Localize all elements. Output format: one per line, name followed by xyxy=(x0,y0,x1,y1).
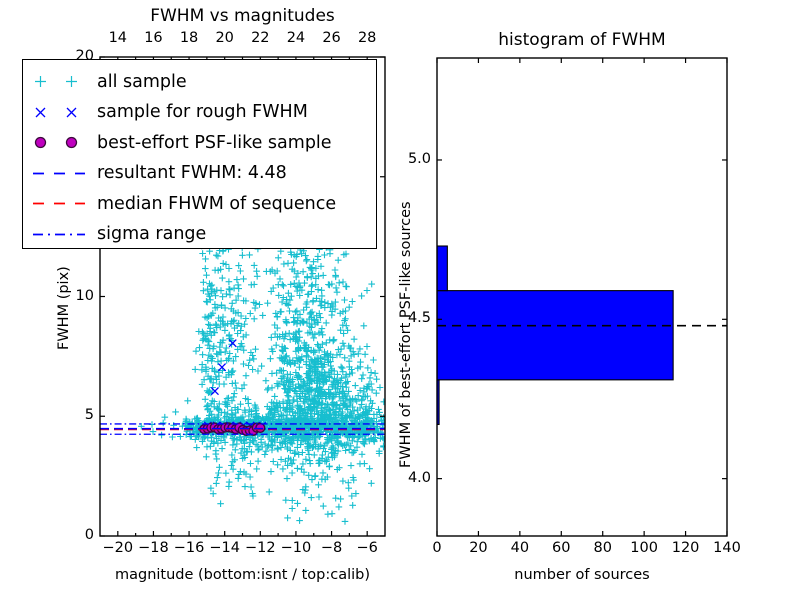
left-panel-ylabel: FWHM (pix) xyxy=(56,266,72,350)
legend-item: median FHWM of sequence xyxy=(23,188,376,219)
ryl-label: 4.0 xyxy=(408,470,431,486)
right-panel-ylabel: FWHM of best-effort PSF-like sources xyxy=(398,201,414,468)
legend-item-label: median FHWM of sequence xyxy=(97,194,336,214)
legend-item-label: best-effort PSF-like sample xyxy=(97,133,332,153)
legend-dashed-line-icon xyxy=(23,188,97,219)
left-panel-xlabel: magnitude (bottom:isnt / top:calib) xyxy=(100,567,385,583)
lyl-label: 0 xyxy=(85,527,94,543)
lxt-label: 26 xyxy=(322,30,340,46)
lxt-label: 18 xyxy=(180,30,198,46)
lxb-label: −6 xyxy=(357,540,378,556)
rxl-label: 20 xyxy=(469,540,487,556)
legend-cross-icon xyxy=(23,97,97,128)
lyl-label: 10 xyxy=(76,288,94,304)
legend-item: sigma range xyxy=(23,219,376,250)
lxb-label: −16 xyxy=(174,540,205,556)
lxb-label: −12 xyxy=(245,540,276,556)
scatter-point-circle xyxy=(256,424,265,433)
lyl-label: 5 xyxy=(85,407,94,423)
rxl-label: 40 xyxy=(511,540,529,556)
histogram-bar xyxy=(437,246,447,291)
legend-circle-icon xyxy=(23,127,97,158)
lxb-label: −14 xyxy=(209,540,240,556)
lxt-label: 28 xyxy=(358,30,376,46)
left-panel-title: FWHM vs magnitudes xyxy=(100,6,385,26)
right-panel-title: histogram of FWHM xyxy=(437,30,727,50)
legend-item: all sample xyxy=(23,66,376,97)
rxl-label: 100 xyxy=(630,540,658,556)
legend-item-label: sigma range xyxy=(97,224,206,244)
lxb-label: −20 xyxy=(103,540,134,556)
lxt-label: 22 xyxy=(251,30,269,46)
legend-box: all sample sample for rough FWHM best-ef… xyxy=(22,59,377,249)
legend-plus-icon xyxy=(23,66,97,97)
histogram-panel xyxy=(437,58,727,536)
lxb-label: −18 xyxy=(138,540,169,556)
lxb-label: −10 xyxy=(281,540,312,556)
lxt-label: 14 xyxy=(109,30,127,46)
rxl-label: 140 xyxy=(713,540,741,556)
legend-item: best-effort PSF-like sample xyxy=(23,127,376,158)
legend-item-label: all sample xyxy=(97,72,187,92)
legend-item-label: resultant FWHM: 4.48 xyxy=(97,163,287,183)
lxt-label: 24 xyxy=(287,30,305,46)
rxl-label: 0 xyxy=(432,540,441,556)
histogram-bar xyxy=(437,291,673,380)
lxt-label: 16 xyxy=(144,30,162,46)
legend-item: resultant FWHM: 4.48 xyxy=(23,158,376,189)
legend-dashed-line-icon xyxy=(23,158,97,189)
ryl-label: 5.0 xyxy=(408,151,431,167)
right-panel-xlabel: number of sources xyxy=(437,567,727,583)
legend-item-label: sample for rough FWHM xyxy=(97,102,308,122)
rxl-label: 60 xyxy=(552,540,570,556)
rxl-label: 80 xyxy=(593,540,611,556)
legend-dashdot-line-icon xyxy=(23,219,97,250)
lxb-label: −8 xyxy=(321,540,342,556)
legend-item: sample for rough FWHM xyxy=(23,97,376,128)
rxl-label: 120 xyxy=(672,540,700,556)
ryl-label: 4.5 xyxy=(408,310,431,326)
lxt-label: 20 xyxy=(215,30,233,46)
